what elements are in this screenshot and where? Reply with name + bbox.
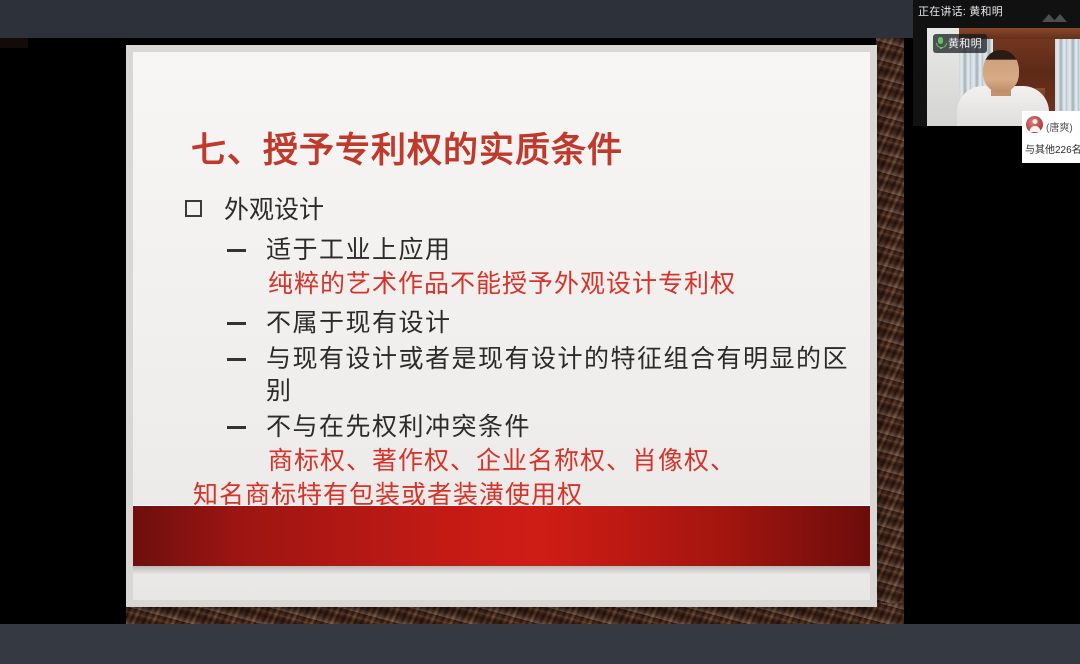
bullet-level2: 不与在先权利冲突条件 xyxy=(227,411,856,443)
slide-band-shadow xyxy=(133,566,870,574)
bottom-toolbar xyxy=(0,624,1080,664)
bullet-level2: 不属于现有设计 xyxy=(227,307,856,339)
bullet-level2: 适于工业上应用 xyxy=(227,234,856,266)
bullet-level2: 与现有设计或者是现有设计的特征组合有明显的区别 xyxy=(227,343,856,407)
bullet-level1-text: 外观设计 xyxy=(224,190,324,226)
slide-inner-surface: 七、授予专利权的实质条件 外观设计 适于工业上应用 纯粹的艺术作品不能授予外观设… xyxy=(133,52,870,600)
dash-bullet-icon xyxy=(227,322,246,325)
wall-texture-cap xyxy=(0,38,28,48)
dash-bullet-icon xyxy=(227,358,246,361)
speaking-banner: 正在讲话: 黄和明 xyxy=(918,3,1003,19)
slide-body: 外观设计 适于工业上应用 纯粹的艺术作品不能授予外观设计专利权 不属于现有设计 … xyxy=(185,190,856,512)
dash-bullet-icon xyxy=(227,249,246,252)
bullet-level2-text: 适于工业上应用 xyxy=(266,234,452,266)
meeting-screen: 正在讲话: 黄和明 七、授予专利权的实质条件 外观设计 xyxy=(0,0,1080,664)
speaker-name-badge: 黄和明 xyxy=(933,34,987,53)
participant-name: (唐爽) xyxy=(1046,119,1073,134)
participants-others-count: 与其他226名 xyxy=(1025,141,1080,156)
bullet-level2-text: 不属于现有设计 xyxy=(266,307,452,339)
dash-bullet-icon xyxy=(227,426,246,429)
bullet-level1: 外观设计 xyxy=(185,190,856,226)
square-bullet-icon xyxy=(185,200,202,217)
bullet-level2-text: 与现有设计或者是现有设计的特征组合有明显的区别 xyxy=(266,343,856,407)
speaker-name: 黄和明 xyxy=(948,35,982,51)
bullet-level2-text: 不与在先权利冲突条件 xyxy=(266,411,531,443)
wall-texture-right xyxy=(876,38,904,618)
participant-avatar-icon xyxy=(1026,116,1043,133)
slide-footer-band xyxy=(133,505,870,566)
red-annotation-2: 商标权、著作权、企业名称权、肖像权、 xyxy=(268,445,856,478)
microphone-icon xyxy=(936,37,945,49)
red-annotation-1: 纯粹的艺术作品不能授予外观设计专利权 xyxy=(268,268,856,301)
participants-card[interactable]: (唐爽) 与其他226名 xyxy=(1022,111,1080,163)
speaker-head xyxy=(983,50,1019,92)
chevron-collapse-icon[interactable] xyxy=(1038,9,1072,27)
slide-title: 七、授予专利权的实质条件 xyxy=(191,122,623,173)
presentation-slide: 七、授予专利权的实质条件 外观设计 适于工业上应用 纯粹的艺术作品不能授予外观设… xyxy=(126,45,877,607)
